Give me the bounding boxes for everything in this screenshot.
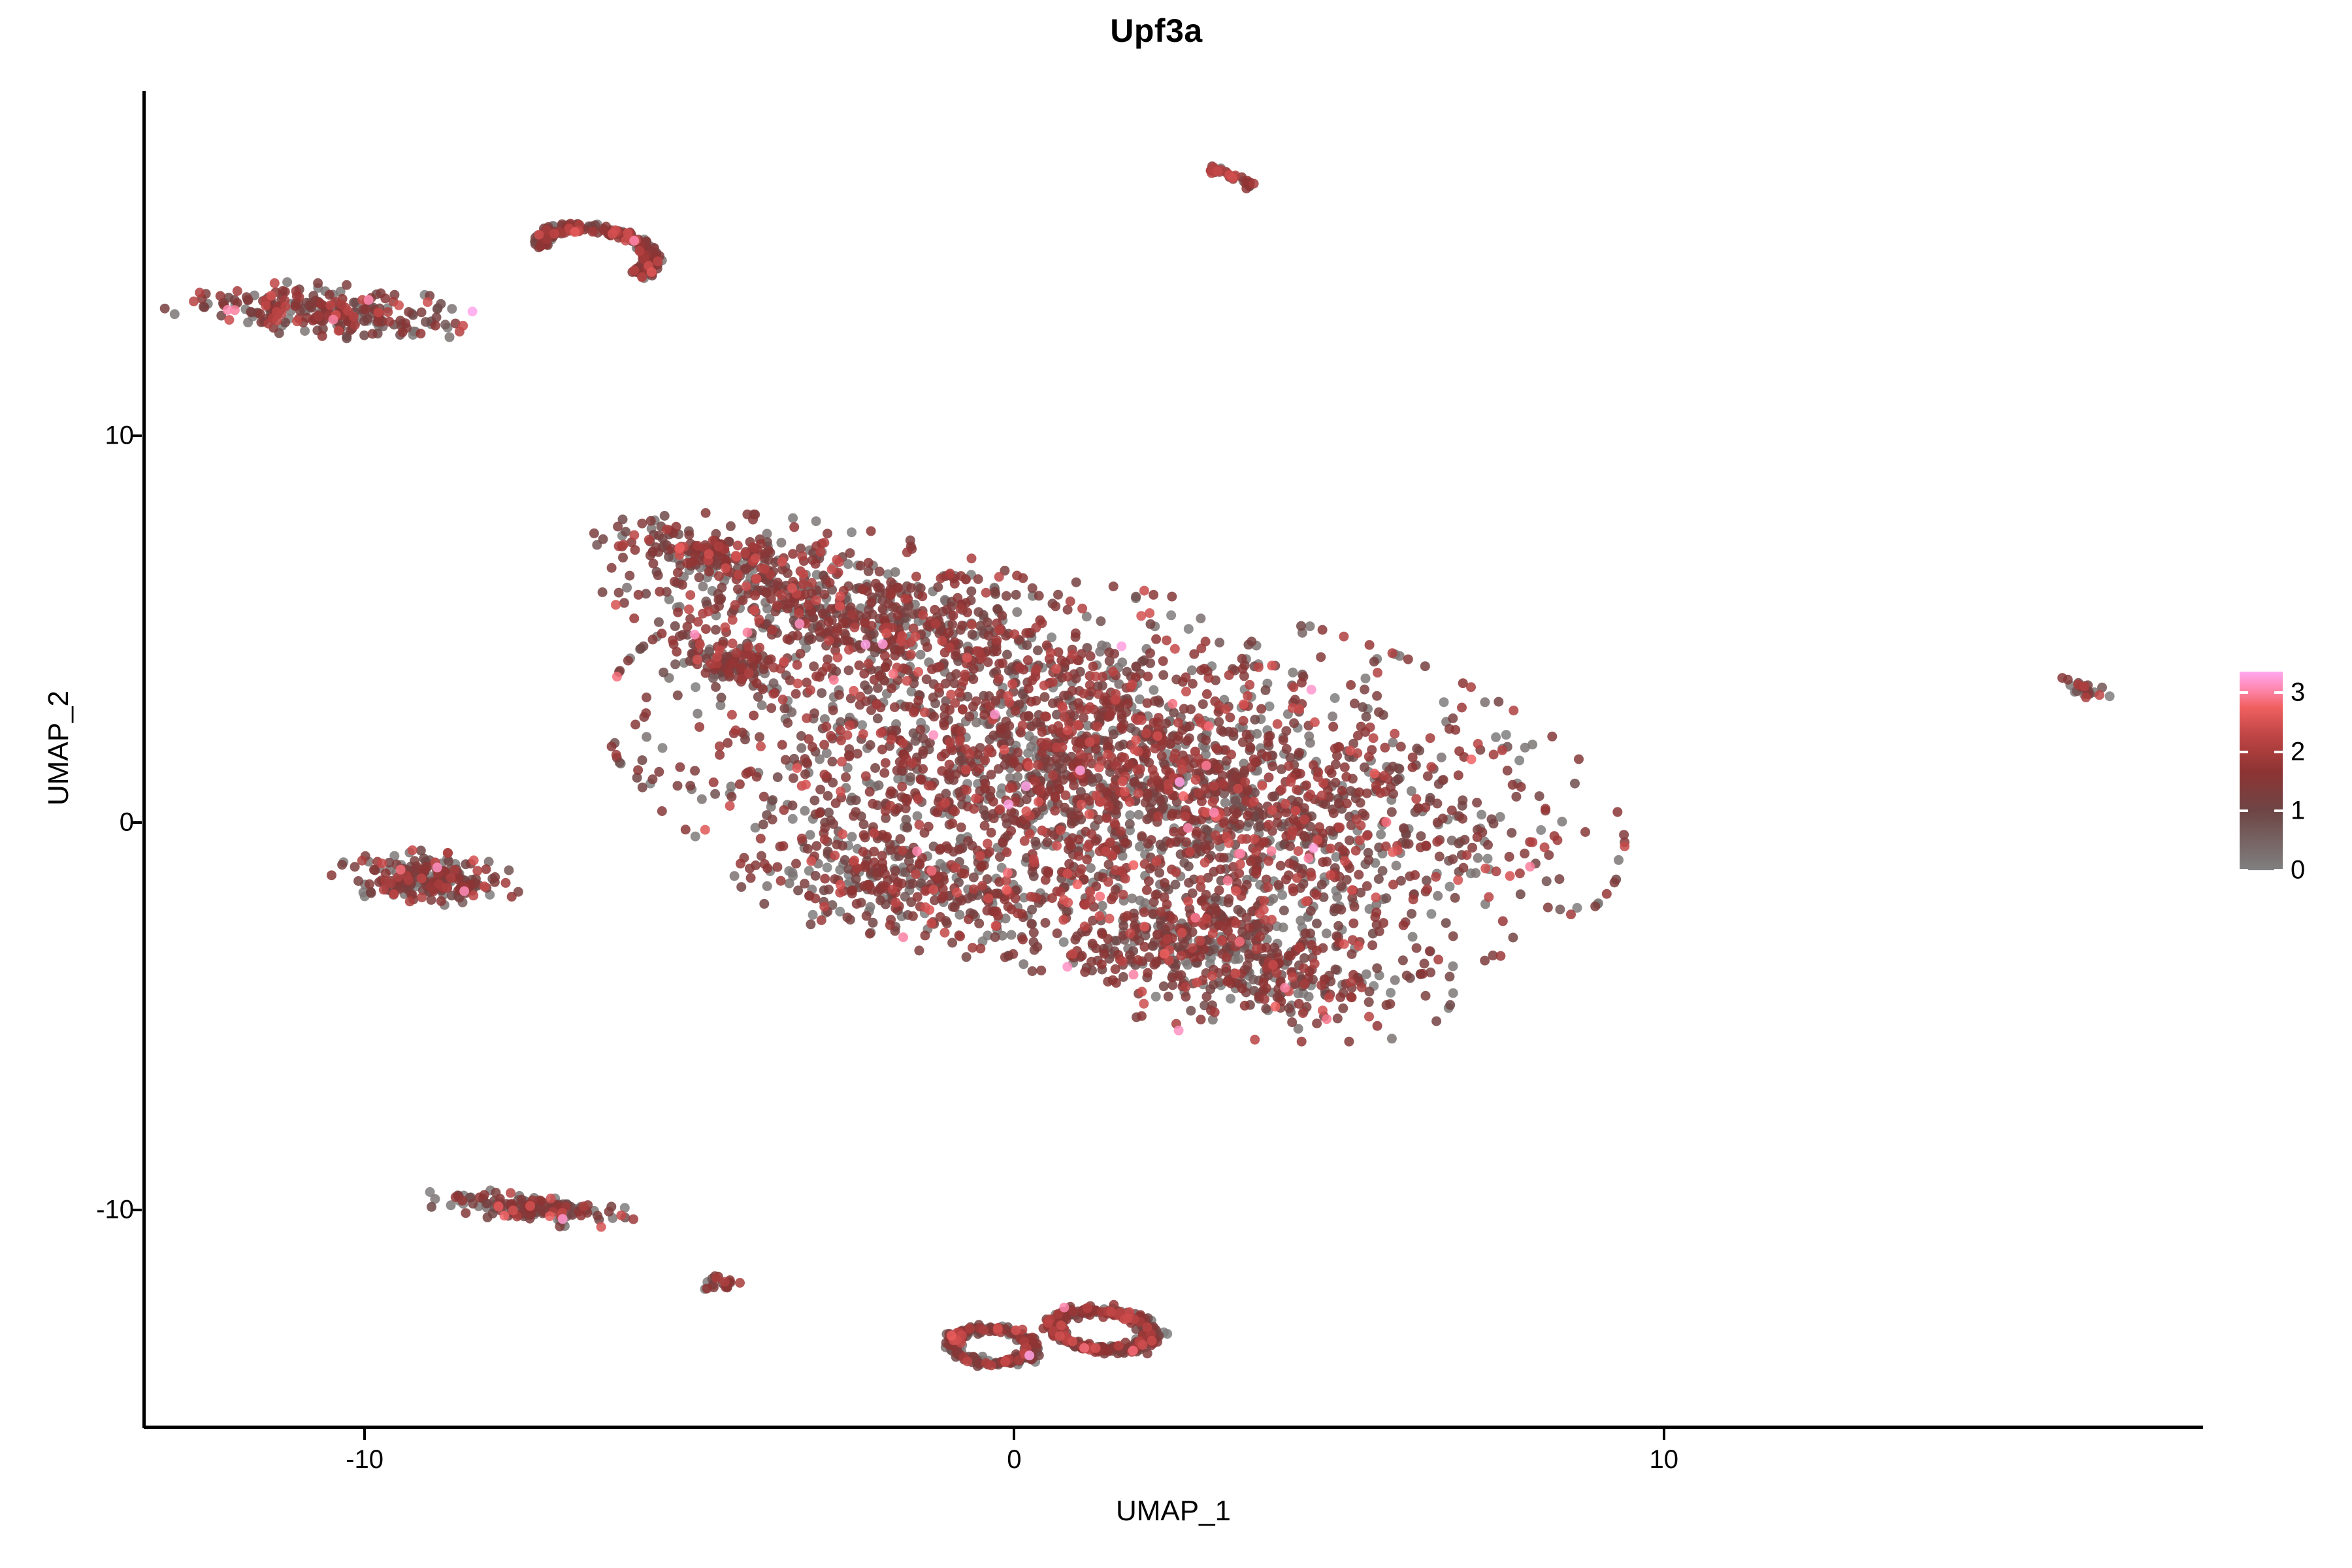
scatter-point bbox=[817, 915, 826, 925]
scatter-point bbox=[433, 304, 442, 314]
scatter-point bbox=[759, 792, 769, 802]
scatter-point bbox=[614, 588, 624, 598]
scatter-point bbox=[1285, 753, 1295, 762]
scatter-point bbox=[1338, 1004, 1348, 1013]
scatter-point bbox=[636, 644, 645, 653]
scatter-point bbox=[1483, 840, 1493, 850]
scatter-point bbox=[300, 326, 310, 336]
scatter-point bbox=[779, 805, 789, 815]
scatter-point bbox=[1102, 813, 1111, 823]
scatter-point bbox=[1457, 703, 1467, 713]
scatter-point bbox=[2105, 691, 2115, 701]
scatter-point bbox=[1143, 672, 1153, 681]
scatter-point bbox=[954, 845, 964, 855]
scatter-point bbox=[1282, 744, 1292, 754]
scatter-point bbox=[1082, 855, 1092, 864]
scatter-point bbox=[613, 522, 623, 532]
scatter-point bbox=[916, 650, 926, 660]
scatter-point bbox=[618, 553, 628, 563]
scatter-point bbox=[939, 721, 949, 730]
scatter-point bbox=[1060, 803, 1070, 813]
scatter-point bbox=[1448, 988, 1458, 998]
scatter-point bbox=[670, 659, 680, 669]
scatter-point bbox=[1109, 581, 1119, 591]
scatter-point bbox=[1200, 664, 1209, 674]
scatter-point bbox=[1408, 762, 1418, 772]
scatter-point bbox=[936, 574, 946, 583]
scatter-point bbox=[1341, 772, 1351, 782]
scatter-point bbox=[827, 757, 837, 766]
scatter-point bbox=[1073, 851, 1083, 861]
scatter-point bbox=[619, 598, 629, 608]
scatter-point bbox=[365, 879, 374, 889]
scatter-point bbox=[1505, 852, 1514, 862]
scatter-point bbox=[1316, 652, 1326, 662]
scatter-point bbox=[291, 301, 301, 311]
scatter-point bbox=[612, 750, 621, 760]
scatter-point bbox=[1243, 811, 1252, 821]
scatter-point bbox=[1614, 855, 1624, 865]
scatter-point bbox=[1246, 857, 1256, 866]
scatter-point bbox=[1398, 955, 1408, 965]
scatter-point bbox=[598, 534, 608, 544]
scatter-point bbox=[1306, 906, 1316, 916]
scatter-point bbox=[1131, 592, 1141, 602]
scatter-point bbox=[1069, 781, 1079, 791]
scatter-point bbox=[1381, 893, 1391, 903]
scatter-point bbox=[658, 743, 668, 753]
scatter-point bbox=[1498, 916, 1508, 926]
scatter-point bbox=[1034, 591, 1044, 600]
scatter-point bbox=[936, 844, 945, 854]
scatter-point bbox=[797, 834, 807, 843]
scatter-point bbox=[945, 760, 955, 770]
scatter-point bbox=[622, 583, 632, 593]
scatter-point bbox=[1445, 1000, 1455, 1010]
scatter-point bbox=[1281, 808, 1291, 817]
scatter-point bbox=[1407, 909, 1416, 919]
scatter-point bbox=[282, 277, 292, 287]
scatter-point bbox=[1151, 992, 1161, 1002]
scatter-point bbox=[759, 819, 768, 829]
scatter-point bbox=[1448, 961, 1458, 971]
scatter-point bbox=[828, 706, 838, 715]
scatter-point bbox=[913, 811, 923, 821]
scatter-point bbox=[749, 711, 759, 721]
scatter-point bbox=[1590, 902, 1600, 911]
scatter-point bbox=[842, 913, 852, 923]
scatter-point bbox=[1445, 882, 1455, 892]
scatter-point bbox=[474, 1192, 484, 1202]
scatter-point bbox=[919, 746, 928, 756]
scatter-point bbox=[1050, 806, 1060, 816]
scatter-point bbox=[1152, 930, 1162, 939]
scatter-point bbox=[1135, 842, 1145, 852]
scatter-point bbox=[902, 823, 912, 833]
scatter-point bbox=[1144, 876, 1154, 886]
scatter-point bbox=[844, 666, 854, 676]
scatter-point bbox=[1501, 730, 1511, 740]
scatter-point bbox=[1141, 798, 1151, 808]
scatter-point bbox=[1167, 811, 1177, 821]
scatter-point bbox=[766, 655, 776, 664]
scatter-point bbox=[1404, 839, 1414, 849]
scatter-point bbox=[823, 791, 833, 801]
scatter-point bbox=[1439, 775, 1448, 785]
scatter-point bbox=[993, 911, 1003, 921]
scatter-point bbox=[1574, 755, 1584, 764]
scatter-point bbox=[1373, 1021, 1382, 1031]
scatter-point bbox=[1226, 994, 1235, 1004]
scatter-point bbox=[2057, 673, 2067, 683]
scatter-point bbox=[684, 530, 694, 540]
scatter-point bbox=[507, 892, 517, 902]
scatter-point bbox=[701, 668, 711, 678]
scatter-point bbox=[768, 815, 777, 825]
scatter-point bbox=[1007, 930, 1017, 939]
scatter-point bbox=[808, 910, 818, 920]
scatter-point bbox=[1201, 844, 1211, 854]
scatter-point bbox=[815, 785, 825, 794]
scatter-point bbox=[400, 318, 410, 328]
scatter-point bbox=[1284, 761, 1294, 771]
scatter-point bbox=[599, 225, 609, 235]
scatter-point bbox=[1192, 826, 1201, 836]
scatter-point bbox=[1224, 894, 1233, 904]
scatter-point bbox=[803, 844, 813, 854]
scatter-point bbox=[694, 572, 704, 582]
scatter-point bbox=[670, 577, 679, 587]
scatter-point bbox=[1086, 829, 1096, 839]
scatter-point bbox=[681, 825, 691, 834]
scatter-point bbox=[961, 575, 971, 585]
scatter-point bbox=[1261, 1004, 1271, 1014]
scatter-point bbox=[1420, 661, 1430, 671]
scatter-point bbox=[404, 307, 414, 317]
scatter-point bbox=[1557, 817, 1567, 826]
scatter-point bbox=[1448, 713, 1458, 723]
scatter-point bbox=[973, 574, 983, 584]
scatter-point bbox=[1140, 898, 1150, 908]
scatter-point bbox=[1297, 1037, 1307, 1047]
scatter-point bbox=[1454, 746, 1464, 756]
scatter-point bbox=[1070, 935, 1080, 945]
scatter-point bbox=[1333, 921, 1343, 931]
scatter-point bbox=[868, 799, 877, 809]
scatter-point bbox=[1372, 963, 1382, 973]
scatter-point bbox=[1183, 736, 1192, 746]
scatter-point bbox=[1382, 1000, 1392, 1010]
scatter-point bbox=[909, 623, 919, 633]
scatter-point bbox=[672, 522, 681, 532]
scatter-point bbox=[990, 587, 1000, 596]
scatter-point bbox=[871, 579, 881, 589]
scatter-point bbox=[1018, 935, 1028, 945]
scatter-point bbox=[1202, 992, 1212, 1002]
scatter-point bbox=[777, 740, 787, 750]
scatter-point bbox=[841, 772, 851, 782]
scatter-point bbox=[536, 1196, 546, 1206]
scatter-point bbox=[1362, 712, 1371, 722]
scatter-point bbox=[1002, 591, 1011, 601]
scatter-point bbox=[1095, 647, 1105, 657]
scatter-point bbox=[1242, 730, 1252, 740]
scatter-point bbox=[1088, 662, 1098, 672]
scatter-point bbox=[968, 943, 977, 953]
scatter-point bbox=[855, 661, 864, 670]
scatter-point bbox=[1086, 651, 1096, 661]
scatter-point bbox=[1458, 795, 1467, 805]
scatter-point bbox=[588, 227, 598, 237]
scatter-point bbox=[933, 582, 943, 592]
scatter-point bbox=[1431, 1017, 1441, 1026]
scatter-point bbox=[1041, 918, 1051, 928]
scatter-point bbox=[751, 860, 760, 870]
scatter-point bbox=[490, 877, 500, 887]
scatter-point bbox=[874, 780, 884, 790]
scatter-point bbox=[800, 879, 809, 889]
scatter-point bbox=[1134, 810, 1144, 820]
scatter-point bbox=[1473, 832, 1482, 842]
scatter-point bbox=[1033, 645, 1043, 655]
scatter-point bbox=[884, 599, 894, 609]
scatter-point bbox=[974, 919, 984, 928]
scatter-point bbox=[788, 549, 798, 559]
scatter-point bbox=[1279, 923, 1288, 932]
scatter-point bbox=[906, 583, 916, 593]
scatter-point bbox=[1387, 807, 1397, 817]
scatter-point bbox=[694, 722, 704, 732]
scatter-point bbox=[685, 781, 695, 791]
page-title: Upf3a bbox=[0, 12, 2332, 50]
scatter-point bbox=[637, 519, 647, 529]
scatter-point bbox=[950, 902, 960, 912]
scatter-point bbox=[427, 1202, 436, 1212]
scatter-point bbox=[1160, 878, 1169, 888]
scatter-point bbox=[701, 508, 711, 518]
scatter-point bbox=[1040, 711, 1050, 721]
scatter-point bbox=[1316, 981, 1326, 990]
scatter-point bbox=[807, 634, 817, 644]
scatter-point bbox=[483, 1213, 493, 1222]
scatter-point bbox=[1495, 951, 1505, 961]
scatter-point bbox=[1056, 655, 1066, 665]
scatter-point bbox=[773, 772, 783, 782]
scatter-point bbox=[1418, 969, 1428, 979]
scatter-point bbox=[1477, 810, 1486, 820]
scatter-point bbox=[1312, 919, 1322, 928]
scatter-point bbox=[634, 590, 644, 600]
scatter-point bbox=[1602, 889, 1612, 899]
scatter-point bbox=[1432, 798, 1442, 808]
scatter-point bbox=[1188, 927, 1198, 937]
scatter-point bbox=[1137, 1011, 1147, 1021]
scatter-point bbox=[501, 878, 511, 888]
scatter-point bbox=[955, 756, 964, 766]
scatter-point bbox=[1234, 868, 1244, 878]
scatter-point bbox=[647, 774, 657, 784]
scatter-point bbox=[1338, 845, 1348, 855]
scatter-point bbox=[1198, 699, 1208, 709]
scatter-point bbox=[788, 514, 798, 523]
scatter-point bbox=[349, 298, 359, 308]
scatter-point bbox=[809, 796, 819, 806]
scatter-point bbox=[589, 529, 599, 538]
scatter-point bbox=[1520, 849, 1529, 858]
scatter-point bbox=[1149, 685, 1158, 695]
scatter-point bbox=[890, 702, 900, 712]
scatter-point bbox=[1211, 743, 1221, 753]
scatter-point bbox=[742, 564, 751, 574]
scatter-point bbox=[983, 906, 992, 915]
scatter-point bbox=[1247, 637, 1256, 647]
scatter-point bbox=[1196, 613, 1205, 623]
scatter-point bbox=[958, 705, 968, 715]
scatter-point bbox=[1344, 1037, 1354, 1047]
scatter-point bbox=[1240, 1001, 1250, 1011]
scatter-point bbox=[630, 545, 640, 555]
scatter-point bbox=[936, 912, 945, 922]
scatter-point bbox=[1299, 963, 1309, 973]
scatter-point bbox=[1422, 875, 1431, 885]
scatter-point bbox=[657, 806, 667, 816]
scatter-point bbox=[1480, 697, 1490, 707]
scatter-point bbox=[824, 885, 834, 894]
scatter-point bbox=[815, 808, 825, 818]
scatter-point bbox=[1041, 875, 1051, 885]
scatter-point bbox=[1507, 828, 1516, 838]
scatter-point bbox=[1145, 659, 1155, 668]
scatter-point bbox=[1216, 725, 1226, 735]
scatter-point bbox=[1028, 583, 1037, 593]
scatter-point bbox=[1361, 674, 1371, 683]
scatter-point bbox=[1196, 644, 1206, 653]
scatter-point bbox=[1162, 900, 1172, 909]
scatter-point bbox=[1552, 836, 1562, 845]
scatter-point bbox=[638, 755, 647, 765]
scatter-point bbox=[726, 521, 736, 531]
scatter-point bbox=[1239, 716, 1249, 726]
scatter-point bbox=[922, 674, 932, 684]
scatter-point bbox=[604, 1207, 614, 1217]
scatter-point bbox=[1330, 693, 1340, 703]
scatter-point bbox=[968, 630, 977, 640]
scatter-point bbox=[870, 857, 879, 867]
scatter-point bbox=[447, 304, 457, 314]
scatter-point bbox=[1012, 607, 1022, 617]
scatter-point bbox=[416, 329, 425, 338]
scatter-point bbox=[762, 881, 772, 891]
scatter-point bbox=[996, 724, 1006, 734]
scatter-point bbox=[1328, 722, 1338, 732]
scatter-point bbox=[1071, 578, 1081, 587]
scatter-point bbox=[1541, 804, 1550, 813]
scatter-point bbox=[1196, 1015, 1206, 1024]
scatter-point bbox=[1098, 929, 1107, 939]
scatter-point bbox=[683, 622, 693, 632]
scatter-point bbox=[789, 774, 798, 783]
scatter-point bbox=[870, 675, 879, 685]
scatter-point bbox=[638, 783, 647, 792]
scatter-point bbox=[957, 621, 967, 630]
scatter-point bbox=[1287, 1017, 1297, 1027]
scatter-point bbox=[1396, 742, 1406, 751]
scatter-point bbox=[972, 696, 981, 706]
scatter-point bbox=[1026, 721, 1036, 731]
scatter-point bbox=[1285, 841, 1295, 851]
scatter-point bbox=[778, 841, 788, 851]
scatter-point bbox=[819, 740, 829, 749]
scatter-point bbox=[928, 693, 938, 702]
scatter-point bbox=[1348, 919, 1358, 928]
scatter-point bbox=[824, 617, 834, 627]
scatter-point bbox=[819, 590, 829, 600]
scatter-point bbox=[885, 920, 895, 930]
scatter-point bbox=[1345, 836, 1354, 845]
scatter-point bbox=[1304, 992, 1314, 1002]
scatter-point bbox=[1011, 816, 1021, 826]
scatter-point bbox=[1037, 727, 1047, 737]
scatter-point bbox=[295, 292, 304, 302]
scatter-point bbox=[847, 832, 857, 841]
scatter-point bbox=[1288, 668, 1298, 678]
scatter-point bbox=[1258, 978, 1268, 988]
scatter-point bbox=[1028, 966, 1037, 976]
scatter-point bbox=[873, 683, 883, 693]
scatter-point bbox=[1458, 863, 1468, 873]
scatter-point bbox=[337, 860, 347, 870]
scatter-point bbox=[935, 662, 945, 672]
scatter-point bbox=[1111, 964, 1120, 974]
scatter-point bbox=[1215, 638, 1224, 647]
scatter-point bbox=[717, 583, 727, 593]
scatter-point bbox=[880, 651, 890, 661]
scatter-point bbox=[427, 895, 436, 905]
scatter-point bbox=[1228, 727, 1238, 737]
scatter-point bbox=[1390, 975, 1400, 985]
scatter-point bbox=[924, 822, 934, 832]
scatter-point bbox=[1063, 672, 1073, 681]
scatter-point bbox=[1260, 994, 1269, 1004]
scatter-point bbox=[1262, 751, 1272, 761]
scatter-point bbox=[1011, 706, 1021, 716]
scatter-point bbox=[1156, 796, 1166, 806]
scatter-point bbox=[421, 317, 431, 327]
scatter-point bbox=[1460, 835, 1469, 845]
scatter-point bbox=[1610, 877, 1620, 887]
scatter-point bbox=[1371, 907, 1381, 917]
scatter-point bbox=[1179, 704, 1189, 713]
scatter-point bbox=[1362, 881, 1372, 891]
scatter-point bbox=[1489, 750, 1499, 760]
scatter-point bbox=[755, 732, 764, 742]
scatter-point bbox=[1471, 868, 1480, 878]
scatter-point bbox=[1061, 791, 1071, 800]
scatter-point bbox=[1216, 864, 1226, 874]
scatter-point bbox=[1158, 656, 1168, 666]
scatter-point bbox=[318, 331, 327, 341]
scatter-point bbox=[859, 830, 869, 840]
scatter-point bbox=[1029, 928, 1039, 938]
scatter-point bbox=[929, 711, 939, 721]
scatter-point bbox=[956, 604, 966, 614]
scatter-point bbox=[461, 1208, 470, 1218]
scatter-point bbox=[909, 708, 919, 717]
scatter-point bbox=[625, 571, 634, 581]
scatter-point bbox=[811, 841, 821, 851]
scatter-point bbox=[445, 333, 455, 342]
scatter-point bbox=[908, 879, 918, 889]
